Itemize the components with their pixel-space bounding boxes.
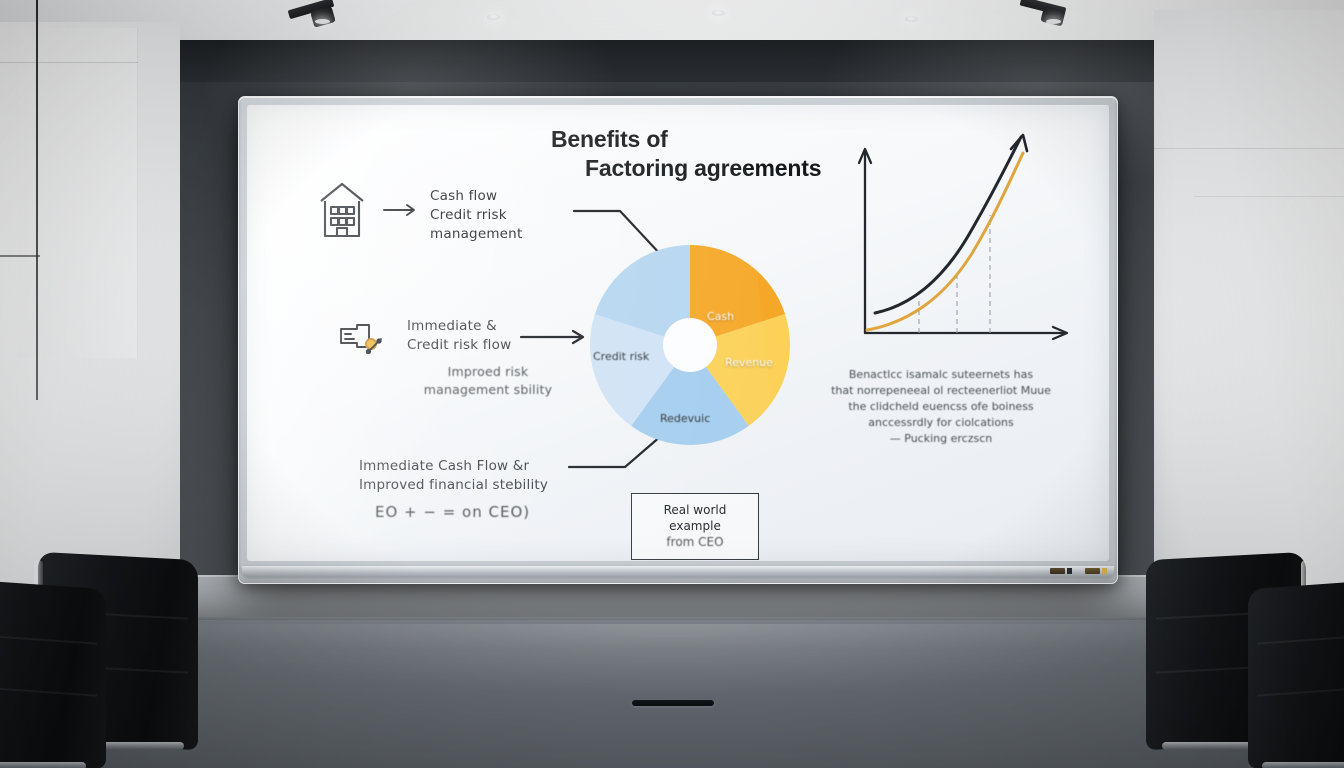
block-3-line-1: Immediate Cash Flow &r (359, 457, 571, 476)
side-note-line-5: — Pucking erczscn (819, 431, 1063, 447)
track-light-lens (315, 19, 330, 24)
chart-gridlines (919, 215, 990, 333)
side-note-line-2: that norrepeneeal ol recteenerliot Muue (819, 383, 1063, 399)
arrow-right-icon-1 (383, 202, 419, 221)
pie-center-hole (663, 318, 717, 372)
recessed-light-3 (905, 16, 918, 22)
real-world-line-2: from CEO (642, 534, 748, 550)
whiteboard-surface[interactable]: Benefits of Factoring agreements (247, 105, 1109, 561)
title-line-1: Benefits of (551, 126, 668, 152)
board-block-2-subtext: Improed risk management sbility (393, 363, 583, 399)
arrow-right-long-icon (519, 329, 591, 349)
pie-label-redevuic: Redevuic (660, 412, 710, 425)
left-wall-seam (0, 62, 138, 63)
marker-dark[interactable] (1050, 568, 1065, 574)
chair-seam (0, 685, 97, 696)
invoice-percent-icon (337, 321, 385, 365)
block-2-subline-1: Improed risk (393, 363, 583, 381)
side-note-line-4: anccessrdly for ciolcations (819, 415, 1063, 431)
table-cable-grommet[interactable] (632, 700, 714, 706)
track-light-lens (1046, 19, 1061, 24)
marker-cap-dark[interactable] (1067, 568, 1072, 574)
recessed-light-1 (487, 14, 500, 20)
chair-seam (1257, 633, 1344, 644)
chair-back (1248, 579, 1344, 768)
block-3-line-2: Improved financial stebility (359, 476, 571, 495)
pie-chart[interactable]: Cash Revenue Redevuic Credit risk (585, 240, 795, 454)
pie-label-revenue: Revenue (725, 356, 773, 369)
building-icon (315, 179, 369, 245)
marker-tray[interactable] (242, 566, 1114, 577)
chair-seam (0, 633, 97, 644)
chair-arm (0, 762, 86, 768)
left-wall-edge-lower (0, 255, 40, 257)
block-2-subline-2: management sbility (393, 381, 583, 399)
whiteboard[interactable]: Benefits of Factoring agreements (238, 96, 1118, 584)
title-line-2: Factoring agreements (551, 154, 891, 183)
side-note-line-3: the clidcheld euencss ofe boiness (819, 399, 1063, 415)
left-wall-edge (36, 0, 38, 400)
conference-room-scene: Benefits of Factoring agreements (0, 0, 1344, 768)
block-1-line-1: Cash flow (430, 187, 580, 206)
chair-arm (1262, 762, 1344, 768)
pie-label-credit-risk: Credit risk (593, 350, 649, 363)
track-light-left (288, 4, 334, 13)
real-world-example-box[interactable]: Real world example from CEO (631, 493, 759, 560)
growth-line-chart-svg (847, 123, 1087, 355)
block-1-line-2: Credit rrisk (430, 206, 580, 225)
block-1-line-3: management (430, 225, 580, 244)
side-note-line-1: Benactlcc isamalc suteernets has (819, 367, 1063, 383)
chair-seam (1257, 685, 1344, 696)
chair-back (0, 579, 106, 768)
growth-line-chart[interactable] (847, 123, 1087, 359)
side-note-text: Benactlcc isamalc suteernets has that no… (819, 367, 1063, 447)
board-block-1-text: Cash flow Credit rrisk management (430, 187, 580, 244)
real-world-line-1: Real world example (642, 502, 748, 534)
pie-label-cash: Cash (707, 310, 734, 323)
block-3-subline-1: EO + − = on CEO) (375, 503, 530, 521)
marker-gold[interactable] (1085, 568, 1100, 574)
right-wall-seam (1154, 148, 1344, 149)
conference-table[interactable] (0, 620, 1344, 768)
right-wall-seam-lower (1194, 196, 1344, 197)
board-block-3-formula: EO + − = on CEO) (375, 503, 575, 521)
marker-cap-gold[interactable] (1102, 568, 1107, 574)
track-light-right (1020, 2, 1066, 11)
board-block-3-text: Immediate Cash Flow &r Improved financia… (359, 457, 571, 495)
page-title: Benefits of Factoring agreements (551, 125, 891, 183)
recessed-light-2 (712, 10, 725, 16)
accent-wall-shadow (155, 40, 1195, 82)
